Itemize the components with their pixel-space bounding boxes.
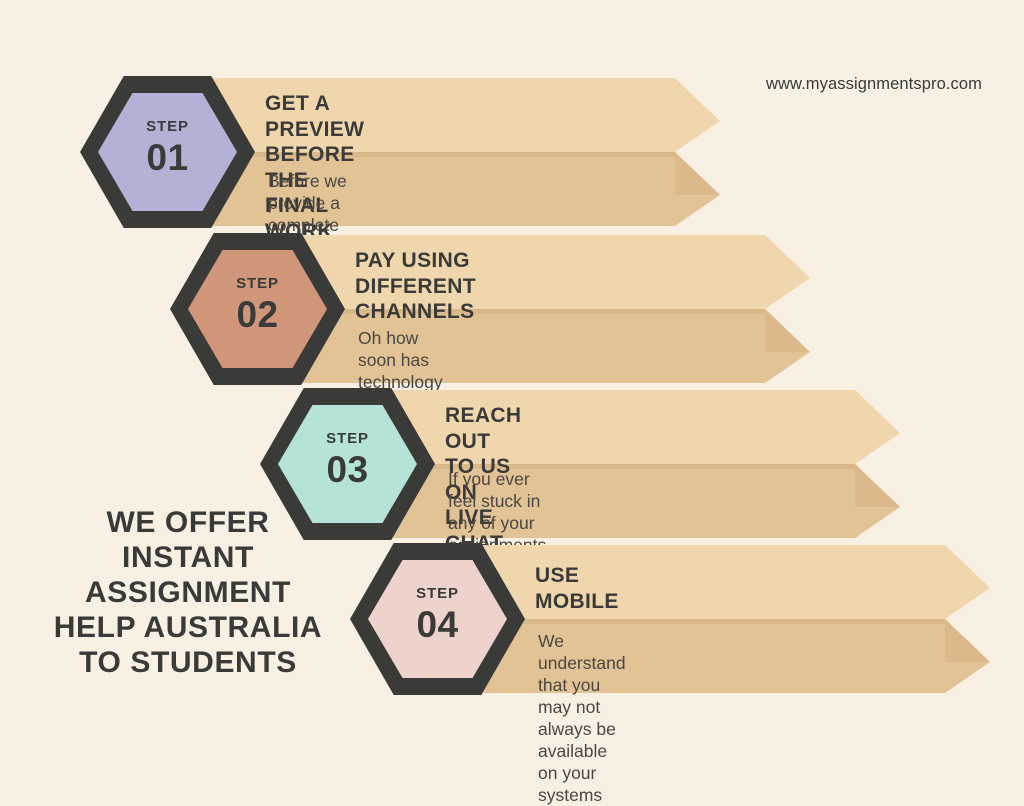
headline: WE OFFER INSTANT ASSIGNMENT HELP AUSTRAL…: [28, 505, 348, 680]
website-url: www.myassignmentspro.com: [766, 75, 982, 94]
step-badge-4[interactable]: STEP 04: [350, 543, 525, 695]
hexagon-icon-4: [350, 543, 525, 695]
hexagon-icon-2: [170, 233, 345, 385]
step-badge-2[interactable]: STEP 02: [170, 233, 345, 385]
step-badge-1[interactable]: STEP 01: [80, 76, 255, 228]
hexagon-icon-1: [80, 76, 255, 228]
infographic-canvas: www.myassignmentspro.com GET A PREVIEW B…: [0, 0, 1024, 768]
